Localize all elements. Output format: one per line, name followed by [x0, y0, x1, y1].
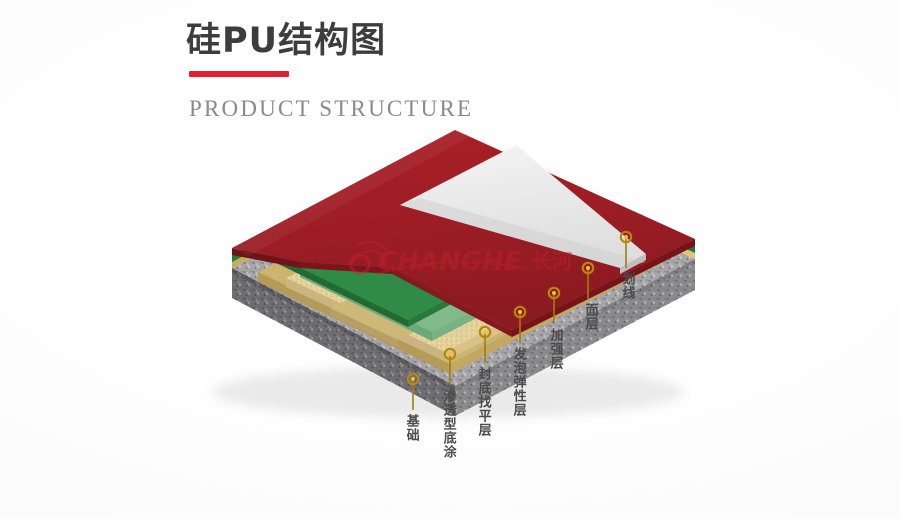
callout-label-base: 基础	[404, 414, 418, 442]
callout-marker-dot	[586, 266, 590, 270]
callout-label-foam: 发泡弹性层	[511, 347, 525, 417]
callout-marker-dot	[448, 352, 452, 356]
callout-marker-dot	[518, 310, 522, 314]
callout-label-reinforce: 加强层	[548, 328, 562, 370]
callout-label-leveling: 封底找平层	[476, 367, 490, 437]
callout-marker-dot	[411, 377, 415, 381]
callout-label-marking: 划线	[620, 272, 634, 300]
callout-label-surface: 面层	[583, 303, 597, 331]
callout-marker-dot	[624, 235, 628, 239]
callout-label-primer: 渗透型底涂	[441, 389, 455, 459]
page-canvas: 硅PU结构图 PRODUCT STRUCTURE	[0, 0, 900, 519]
callout-marker-dot	[483, 330, 487, 334]
callout-marker-dot	[552, 291, 556, 295]
